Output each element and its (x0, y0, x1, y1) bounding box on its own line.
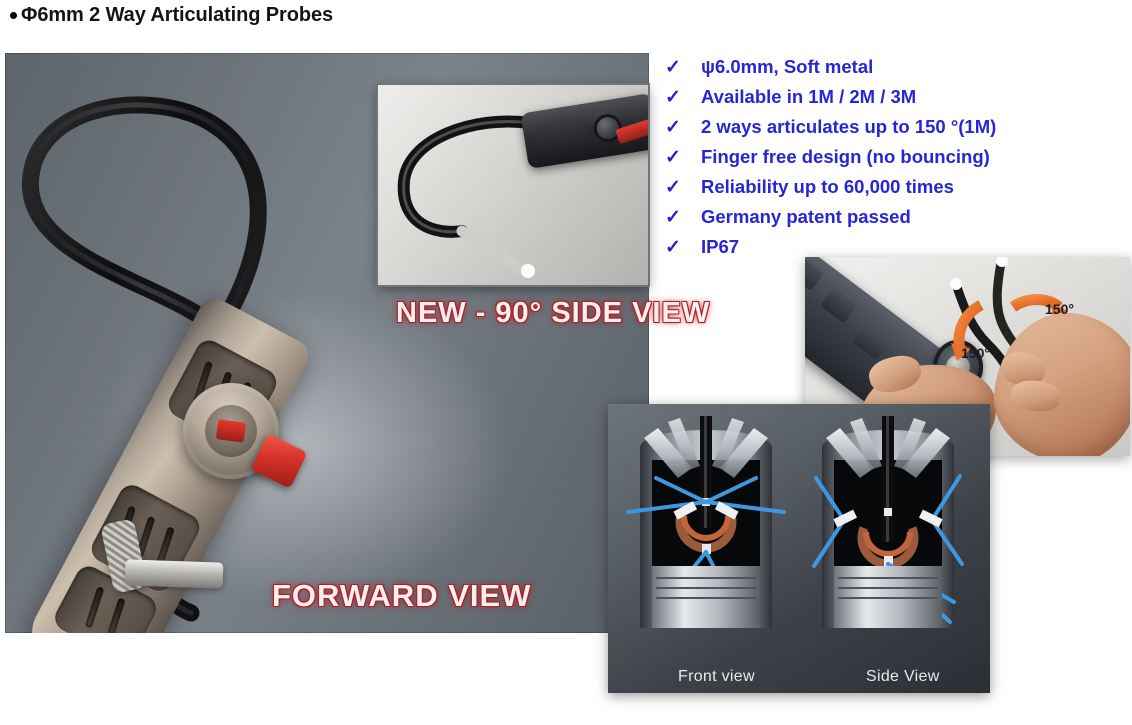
feature-label: IP67 (701, 233, 739, 260)
page-title: Φ6mm 2 Way Articulating Probes (10, 4, 333, 27)
feature-item: ✓ Reliability up to 60,000 times (665, 173, 1127, 200)
engine-cylinder-diagram-panel: Front view Side View (608, 404, 990, 693)
check-icon: ✓ (665, 144, 701, 171)
feature-item: ✓ Finger free design (no bouncing) (665, 143, 1127, 170)
feature-item: ✓ IP67 (665, 233, 1127, 260)
feature-item: ✓ Available in 1M / 2M / 3M (665, 83, 1127, 110)
probe-camera-tip (125, 559, 224, 588)
side-view-cylinder-diagram (804, 416, 972, 648)
grip-ridge (106, 598, 126, 633)
forward-view-label: FORWARD VIEW (272, 578, 531, 614)
check-icon: ✓ (665, 54, 701, 81)
feature-label: 2 ways articulates up to 150 °(1M) (701, 113, 996, 140)
feature-item: ✓ 2 ways articulates up to 150 °(1M) (665, 113, 1127, 140)
feature-label: ψ6.0mm, Soft metal (701, 53, 873, 80)
thumbwheel-red-marker (216, 419, 247, 443)
page-title-text: Φ6mm 2 Way Articulating Probes (21, 4, 333, 27)
front-view-caption: Front view (678, 668, 755, 686)
check-icon: ✓ (665, 114, 701, 141)
bullet-dot-icon (10, 12, 17, 19)
feature-item: ✓ ψ6.0mm, Soft metal (665, 53, 1127, 80)
side-view-inset-photo (378, 85, 648, 285)
check-icon: ✓ (665, 204, 701, 231)
side-view-caption: Side View (866, 668, 940, 686)
feature-item: ✓ Germany patent passed (665, 203, 1127, 230)
thumbwheel-hub (197, 397, 266, 466)
front-view-cylinder-diagram (622, 416, 790, 648)
feature-label: Available in 1M / 2M / 3M (701, 83, 916, 110)
feature-label: Germany patent passed (701, 203, 911, 230)
angle-label-left: 150° (961, 345, 990, 361)
angle-label-right: 150° (1045, 301, 1074, 317)
inset-grip-slot (532, 116, 588, 154)
feature-label: Reliability up to 60,000 times (701, 173, 954, 200)
feature-label: Finger free design (no bouncing) (701, 143, 990, 170)
grip-ridge (85, 586, 105, 628)
check-icon: ✓ (665, 174, 701, 201)
feature-list: ✓ ψ6.0mm, Soft metal ✓ Available in 1M /… (665, 53, 1127, 263)
check-icon: ✓ (665, 234, 701, 261)
side-view-label: NEW - 90° SIDE VIEW (396, 297, 710, 330)
check-icon: ✓ (665, 84, 701, 111)
